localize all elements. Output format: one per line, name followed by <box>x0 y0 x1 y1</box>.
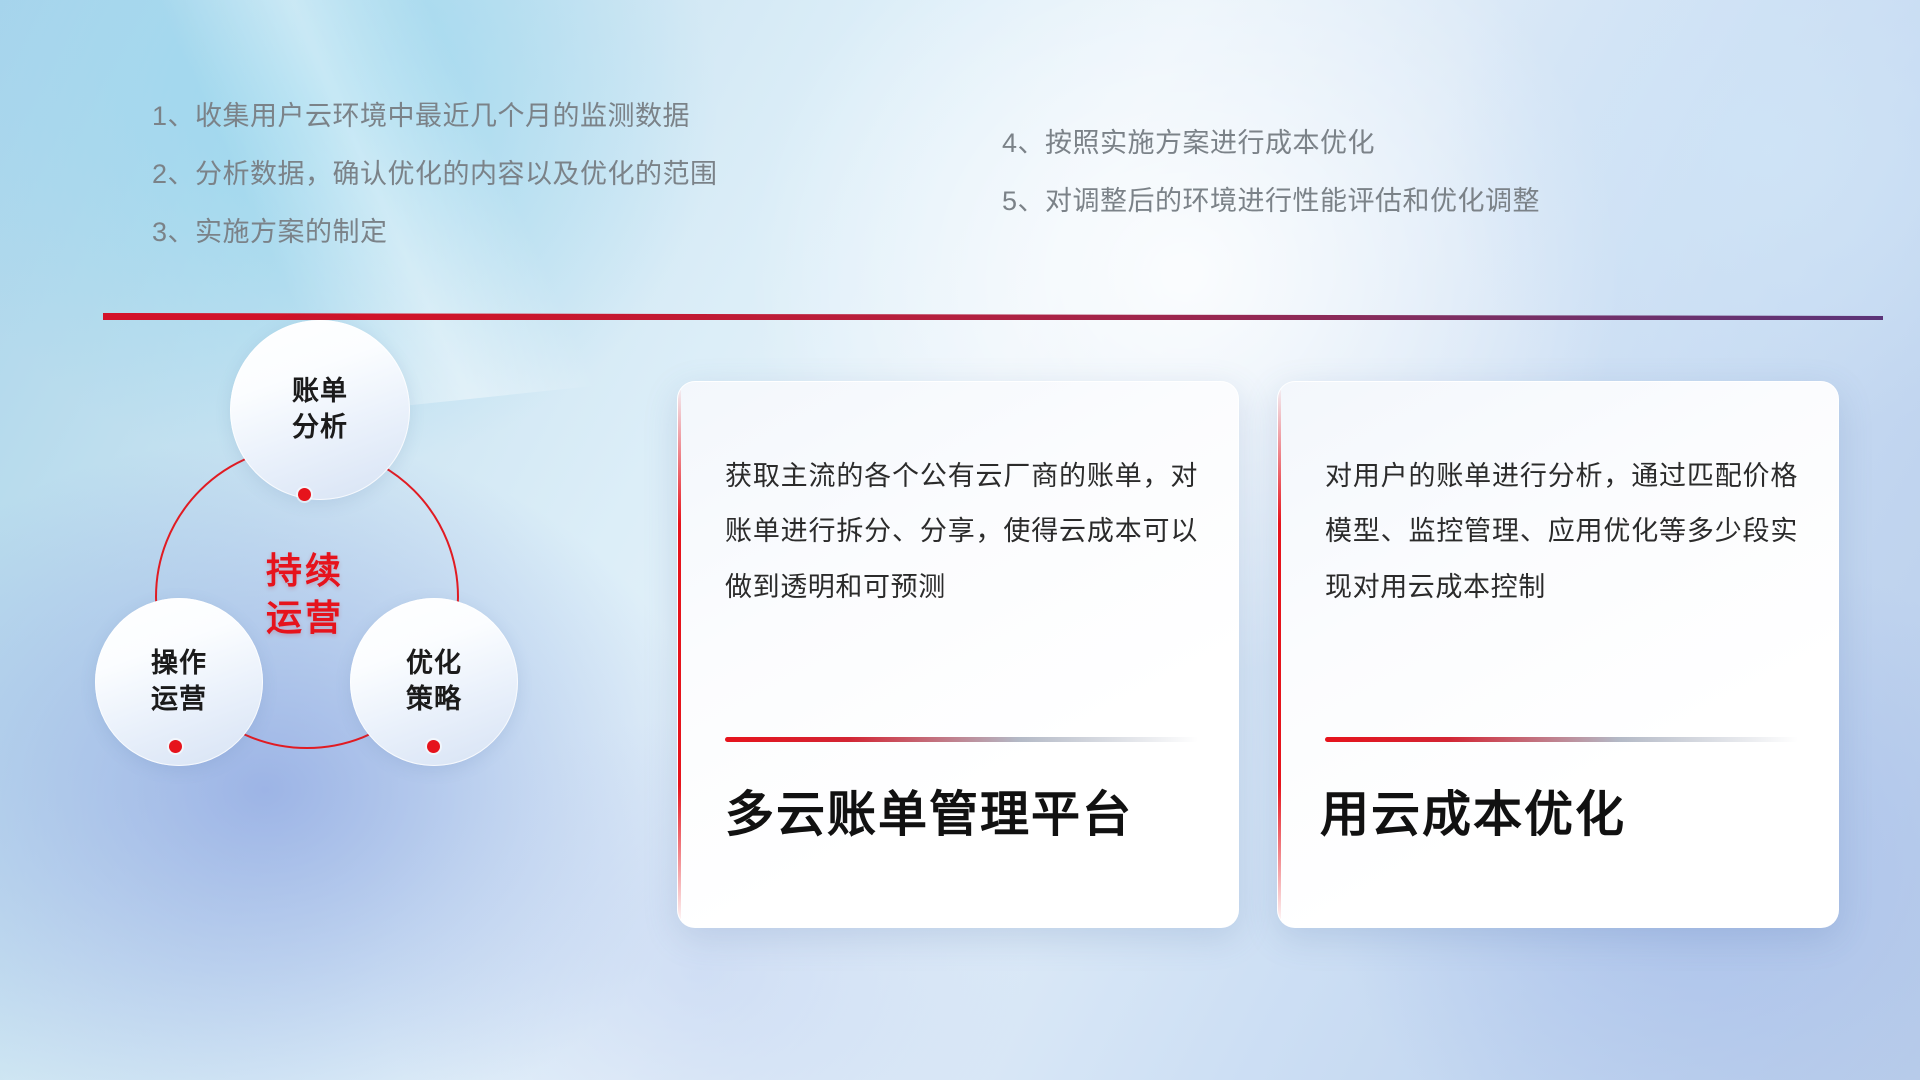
bubble-operation-line1: 操作 <box>151 646 207 682</box>
card-1-body: 获取主流的各个公有云厂商的账单，对账单进行拆分、分享，使得云成本可以做到透明和可… <box>725 449 1198 615</box>
continuous-operation-diagram: 持续 运营 账单 分析 操作 运营 优化 策略 <box>100 340 620 960</box>
step-item-1: 1、收集用户云环境中最近几个月的监测数据 <box>152 103 718 130</box>
step-item-5: 5、对调整后的环境进行性能评估和优化调整 <box>1002 188 1540 215</box>
card-multicloud-billing-platform[interactable]: 获取主流的各个公有云厂商的账单，对账单进行拆分、分享，使得云成本可以做到透明和可… <box>677 381 1239 928</box>
card-cloud-cost-optimization[interactable]: 对用户的账单进行分析，通过匹配价格模型、监控管理、应用优化等多少段实现对用云成本… <box>1277 381 1839 928</box>
steps-list-left: 1、收集用户云环境中最近几个月的监测数据 2、分析数据，确认优化的内容以及优化的… <box>152 103 718 277</box>
bubble-billing-line1: 账单 <box>292 374 348 410</box>
node-dot-right <box>427 740 440 753</box>
step-item-3: 3、实施方案的制定 <box>152 219 718 246</box>
step-item-2: 2、分析数据，确认优化的内容以及优化的范围 <box>152 161 718 188</box>
card-2-body: 对用户的账单进行分析，通过匹配价格模型、监控管理、应用优化等多少段实现对用云成本… <box>1325 449 1798 615</box>
bubble-billing-analysis[interactable]: 账单 分析 <box>230 320 410 500</box>
bubble-strategy-line1: 优化 <box>406 646 462 682</box>
bubble-operation-line2: 运营 <box>151 682 207 718</box>
steps-list-right: 4、按照实施方案进行成本优化 5、对调整后的环境进行性能评估和优化调整 <box>1002 130 1540 246</box>
bubble-billing-line2: 分析 <box>292 410 348 446</box>
card-1-rule <box>725 737 1198 742</box>
node-dot-top <box>298 488 311 501</box>
node-dot-left <box>169 740 182 753</box>
slide-canvas: 1、收集用户云环境中最近几个月的监测数据 2、分析数据，确认优化的内容以及优化的… <box>0 0 1920 1080</box>
card-2-rule <box>1325 737 1798 742</box>
step-item-4: 4、按照实施方案进行成本优化 <box>1002 130 1540 157</box>
card-2-title: 用云成本优化 <box>1320 786 1806 845</box>
card-1-title: 多云账单管理平台 <box>725 786 1206 845</box>
bubble-strategy-line2: 策略 <box>406 682 462 718</box>
